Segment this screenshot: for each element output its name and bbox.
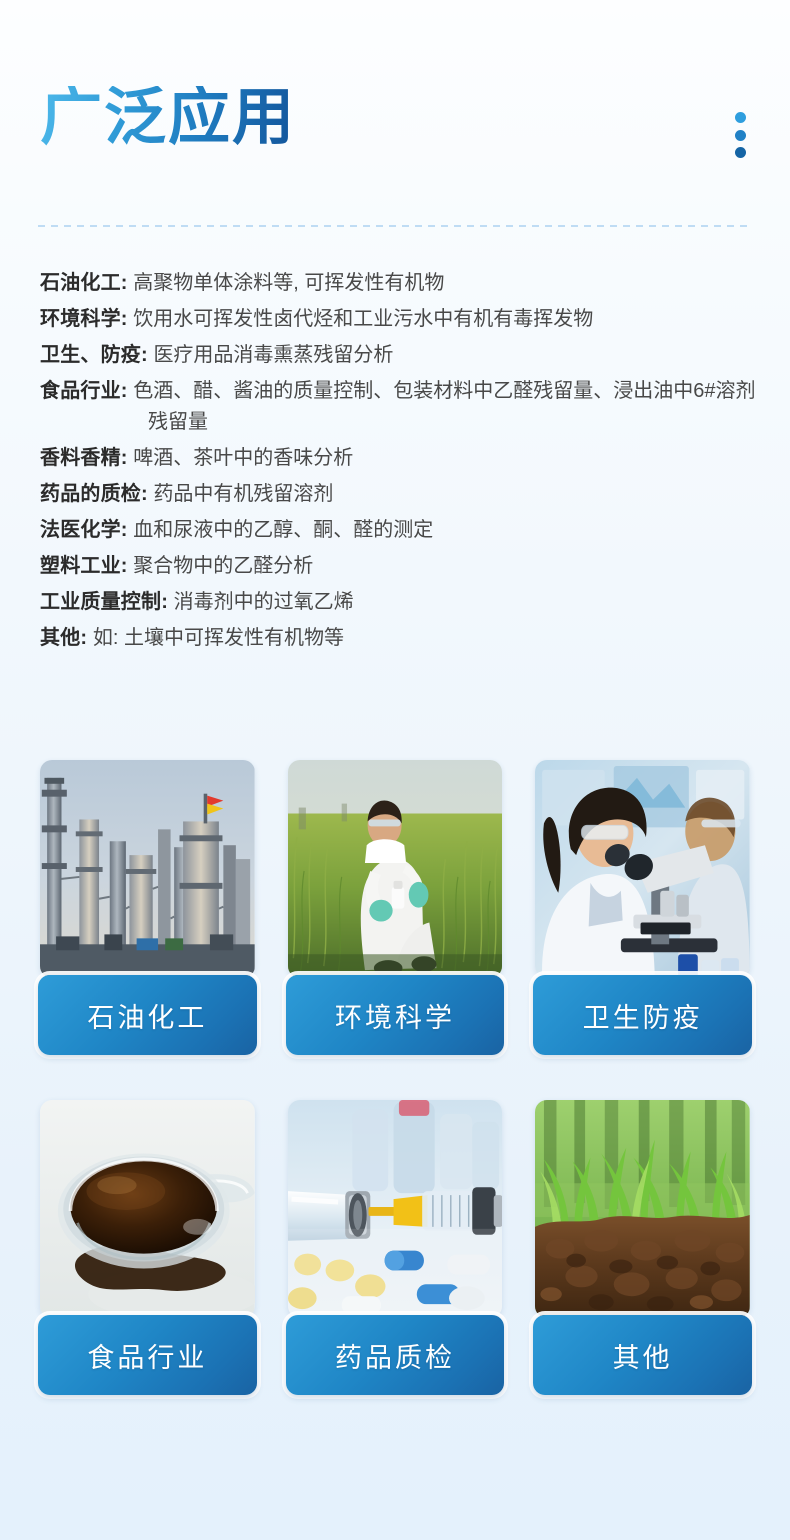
card-title: 食品行业 [87,1336,207,1375]
list-item-label: 食品行业: [40,380,128,402]
card-health-epidemic[interactable]: 卫生防疫 [533,760,752,1055]
list-item-value: 如: 土壤中可挥发性有机物等 [93,627,344,649]
list-item: 塑料工业: 聚合物中的乙醛分析 [40,551,760,582]
page-title: 广泛应用 [40,86,296,151]
list-item-value: 消毒剂中的过氧乙烯 [174,591,354,613]
list-item-value: 聚合物中的乙醛分析 [133,555,313,577]
card-food-industry[interactable]: 食品行业 [38,1100,257,1395]
list-item-label: 药品的质检: [40,483,148,505]
soy-sauce-dish-photo [40,1100,255,1318]
applications-list: 石油化工: 高聚物单体涂料等, 可挥发性有机物 环境科学: 饮用水可挥发性卤代烃… [40,268,760,659]
list-item: 石油化工: 高聚物单体涂料等, 可挥发性有机物 [40,268,760,299]
card-title: 卫生防疫 [583,996,703,1035]
field-scientist-sampling-photo [288,760,503,978]
card-other[interactable]: 其他 [533,1100,752,1395]
kebab-dot-1 [735,112,746,123]
card-label: 卫生防疫 [533,975,752,1055]
list-item-label: 卫生、防疫: [40,344,148,366]
list-item-label: 其他: [40,627,87,649]
list-item: 食品行业: 色酒、醋、酱油的质量控制、包装材料中乙醛残留量、浸出油中6#溶剂残留… [40,376,760,438]
card-label: 药品质检 [286,1315,505,1395]
soil-grass-sprouts-photo [535,1100,750,1318]
card-title: 石油化工 [87,996,207,1035]
card-label: 石油化工 [38,975,257,1055]
list-item-value: 药品中有机残留溶剂 [153,483,333,505]
petrochemical-refinery-photo [40,760,255,978]
syringe-vial-pills-photo [288,1100,503,1318]
card-label: 食品行业 [38,1315,257,1395]
kebab-dot-3 [735,147,746,158]
list-item: 法医化学: 血和尿液中的乙醇、酮、醛的测定 [40,515,760,546]
card-title: 其他 [613,1336,673,1375]
list-item: 环境科学: 饮用水可挥发性卤代烃和工业污水中有机有毒挥发物 [40,304,760,335]
card-pharmaceutical-qc[interactable]: 药品质检 [286,1100,505,1395]
card-environmental-science[interactable]: 环境科学 [286,760,505,1055]
card-title: 环境科学 [335,996,455,1035]
list-item: 其他: 如: 土壤中可挥发性有机物等 [40,623,760,654]
lab-microscope-researcher-photo [535,760,750,978]
list-item: 卫生、防疫: 医疗用品消毒熏蒸残留分析 [40,340,760,371]
list-item-value: 啤酒、茶叶中的香味分析 [133,447,353,469]
list-item-label: 工业质量控制: [40,591,168,613]
application-card-grid: 石油化工 [38,760,752,1395]
card-title: 药品质检 [335,1336,455,1375]
list-item: 香料香精: 啤酒、茶叶中的香味分析 [40,443,760,474]
card-label: 其他 [533,1315,752,1395]
list-item-value: 饮用水可挥发性卤代烃和工业污水中有机有毒挥发物 [133,308,593,330]
list-item-value: 医疗用品消毒熏蒸残留分析 [153,344,393,366]
page-header: 广泛应用 [40,86,750,196]
list-item-label: 法医化学: [40,519,128,541]
list-item-value: 高聚物单体涂料等, 可挥发性有机物 [133,272,444,294]
kebab-vertical-icon[interactable] [734,112,746,158]
list-item-value: 色酒、醋、酱油的质量控制、包装材料中乙醛残留量、浸出油中6#溶剂残留量 [133,380,755,433]
list-item: 工业质量控制: 消毒剂中的过氧乙烯 [40,587,760,618]
header-divider [38,225,752,227]
list-item: 药品的质检: 药品中有机残留溶剂 [40,479,760,510]
list-item-label: 香料香精: [40,447,128,469]
application-page: 广泛应用 石油化工: 高聚物单体涂料等, 可挥发性有机物 环境科学: 饮用水可挥… [0,0,790,1540]
list-item-label: 环境科学: [40,308,128,330]
list-item-label: 石油化工: [40,272,128,294]
list-item-value: 血和尿液中的乙醇、酮、醛的测定 [133,519,433,541]
card-petrochemical[interactable]: 石油化工 [38,760,257,1055]
card-label: 环境科学 [286,975,505,1055]
kebab-dot-2 [735,130,746,141]
list-item-label: 塑料工业: [40,555,128,577]
